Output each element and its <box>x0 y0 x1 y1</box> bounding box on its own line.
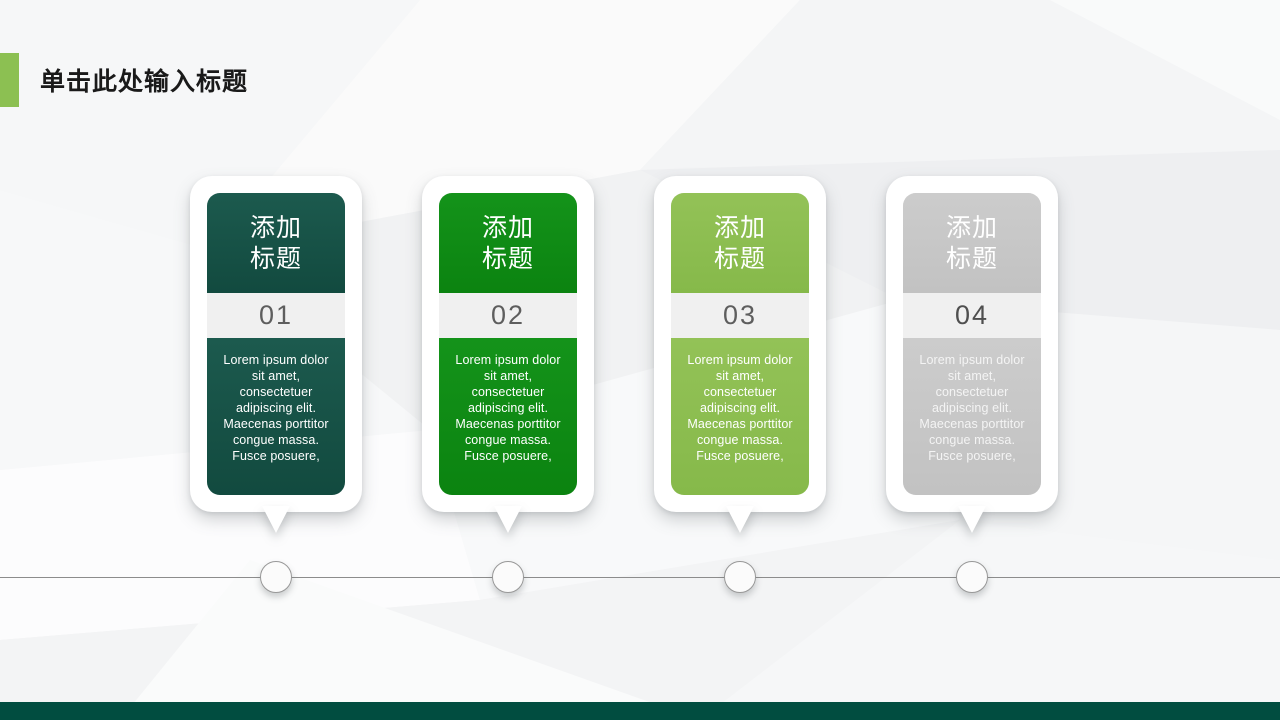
card-pointer-tail <box>958 506 986 533</box>
card-04[interactable]: 添加 标题 04 Lorem ipsum dolor sit amet, con… <box>886 176 1058 512</box>
card-heading-line2: 标题 <box>946 243 998 274</box>
page-title-row: 单击此处输入标题 <box>0 53 248 107</box>
card-02[interactable]: 添加 标题 02 Lorem ipsum dolor sit amet, con… <box>422 176 594 512</box>
card-01[interactable]: 添加 标题 01 Lorem ipsum dolor sit amet, con… <box>190 176 362 512</box>
card-heading: 添加 标题 <box>671 193 809 293</box>
timeline-dot-04[interactable] <box>956 561 988 593</box>
card-03[interactable]: 添加 标题 03 Lorem ipsum dolor sit amet, con… <box>654 176 826 512</box>
card-heading-line2: 标题 <box>714 243 766 274</box>
card-body-text: Lorem ipsum dolor sit amet, consectetuer… <box>671 338 809 495</box>
card-heading-line2: 标题 <box>482 243 534 274</box>
timeline-dot-01[interactable] <box>260 561 292 593</box>
card-body-text: Lorem ipsum dolor sit amet, consectetuer… <box>903 338 1041 495</box>
card-heading-line1: 添加 <box>714 212 766 243</box>
slide-canvas: 单击此处输入标题 添加 标题 01 Lorem ipsum dolor sit … <box>0 0 1280 720</box>
card-frame[interactable]: 添加 标题 01 Lorem ipsum dolor sit amet, con… <box>190 176 362 512</box>
card-heading-line1: 添加 <box>946 212 998 243</box>
card-heading: 添加 标题 <box>439 193 577 293</box>
card-number: 03 <box>671 293 809 338</box>
timeline-axis <box>0 577 1280 578</box>
bottom-accent-bar <box>0 702 1280 720</box>
card-pointer-tail <box>494 506 522 533</box>
card-body-text: Lorem ipsum dolor sit amet, consectetuer… <box>439 338 577 495</box>
card-body-text: Lorem ipsum dolor sit amet, consectetuer… <box>207 338 345 495</box>
card-heading: 添加 标题 <box>903 193 1041 293</box>
card-number: 02 <box>439 293 577 338</box>
card-heading-line1: 添加 <box>250 212 302 243</box>
card-heading-line1: 添加 <box>482 212 534 243</box>
timeline-dot-02[interactable] <box>492 561 524 593</box>
card-heading-line2: 标题 <box>250 243 302 274</box>
card-pointer-tail <box>726 506 754 533</box>
card-number: 04 <box>903 293 1041 338</box>
card-frame[interactable]: 添加 标题 04 Lorem ipsum dolor sit amet, con… <box>886 176 1058 512</box>
timeline-dot-03[interactable] <box>724 561 756 593</box>
card-frame[interactable]: 添加 标题 03 Lorem ipsum dolor sit amet, con… <box>654 176 826 512</box>
card-heading: 添加 标题 <box>207 193 345 293</box>
card-inner: 添加 标题 02 Lorem ipsum dolor sit amet, con… <box>439 193 577 495</box>
title-accent-bar <box>0 53 19 107</box>
card-inner: 添加 标题 04 Lorem ipsum dolor sit amet, con… <box>903 193 1041 495</box>
card-inner: 添加 标题 03 Lorem ipsum dolor sit amet, con… <box>671 193 809 495</box>
card-number: 01 <box>207 293 345 338</box>
card-inner: 添加 标题 01 Lorem ipsum dolor sit amet, con… <box>207 193 345 495</box>
card-pointer-tail <box>262 506 290 533</box>
card-frame[interactable]: 添加 标题 02 Lorem ipsum dolor sit amet, con… <box>422 176 594 512</box>
page-title: 单击此处输入标题 <box>40 62 248 98</box>
